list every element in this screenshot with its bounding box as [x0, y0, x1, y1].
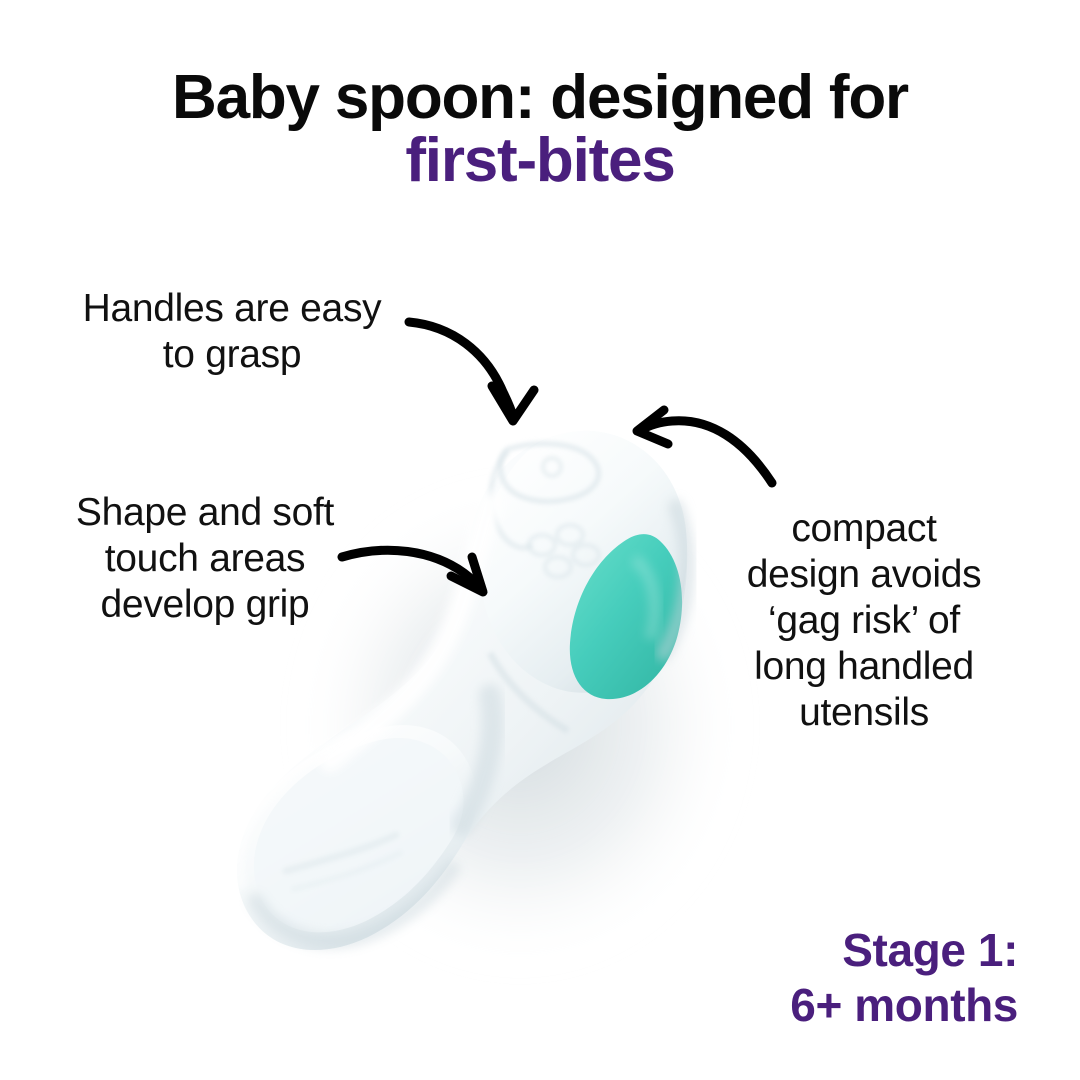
page-title: Baby spoon: designed for first-bites: [0, 66, 1080, 192]
stage-badge: Stage 1: 6+ months: [790, 923, 1018, 1032]
infographic-canvas: Baby spoon: designed for first-bites: [0, 0, 1080, 1080]
callout-shape-and-soft-touch-areas: Shape and soft touch areas develop grip: [40, 490, 370, 628]
title-line-primary: Baby spoon: designed for: [0, 66, 1080, 129]
title-line-highlight: first-bites: [0, 129, 1080, 192]
callout-handles-are-easy-to-grasp: Handles are easy to grasp: [46, 286, 418, 378]
callout-compact-design-avoids-gag-risk: compact design avoids ‘gag risk’ of long…: [708, 506, 1020, 736]
